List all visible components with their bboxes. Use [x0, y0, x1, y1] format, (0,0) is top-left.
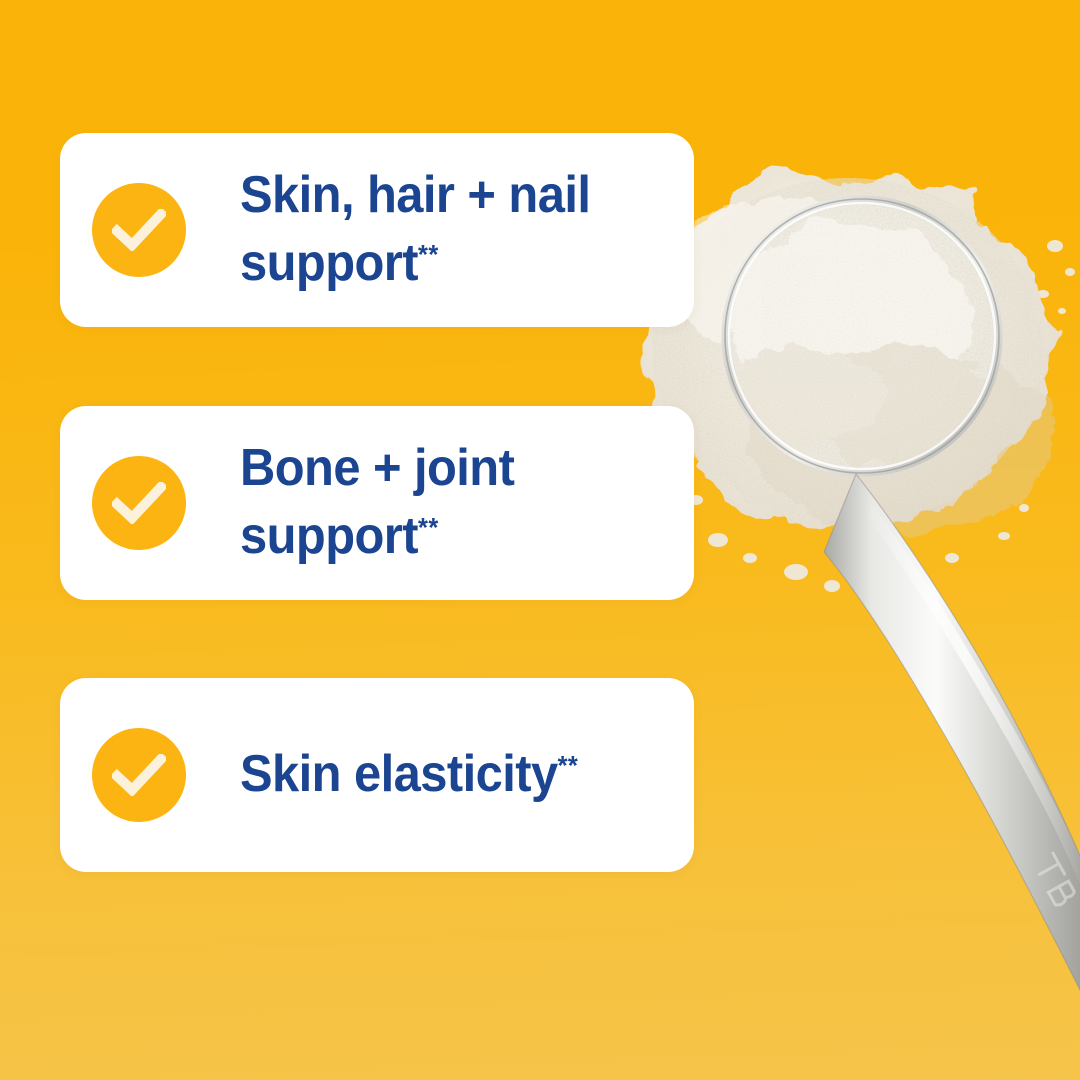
benefit-line-2: support: [240, 234, 418, 292]
benefit-line-1: Skin elasticity: [240, 745, 558, 803]
footnote-marker: **: [418, 512, 439, 542]
benefit-line-1: Bone + joint: [240, 439, 514, 497]
promo-graphic: Skin, hair + nail support** Bone + joint…: [0, 0, 1080, 1080]
benefit-label: Skin elasticity**: [240, 741, 667, 809]
powder-grain: [652, 178, 1044, 522]
scoop-engraving-TBs: [1033, 853, 1077, 907]
benefit-line-2: support: [240, 507, 418, 565]
powder-pile-texture: [660, 192, 1040, 524]
footnote-marker: **: [418, 239, 439, 269]
benefit-card-list: Skin, hair + nail support** Bone + joint…: [60, 0, 700, 1080]
measuring-scoop-bowl: [720, 198, 1004, 478]
benefit-label: Bone + joint support**: [240, 435, 667, 570]
check-icon: [92, 183, 186, 277]
benefit-card-skin-hair-nail[interactable]: Skin, hair + nail support**: [60, 133, 694, 327]
footnote-marker: **: [558, 750, 579, 780]
benefit-line-1: Skin, hair + nail: [240, 166, 590, 224]
check-icon: [92, 728, 186, 822]
benefit-card-skin-elasticity[interactable]: Skin elasticity**: [60, 678, 694, 872]
check-icon: [92, 456, 186, 550]
powder-pile: [646, 170, 1050, 526]
benefit-label: Skin, hair + nail support**: [240, 162, 667, 297]
benefit-card-bone-joint[interactable]: Bone + joint support**: [60, 406, 694, 600]
